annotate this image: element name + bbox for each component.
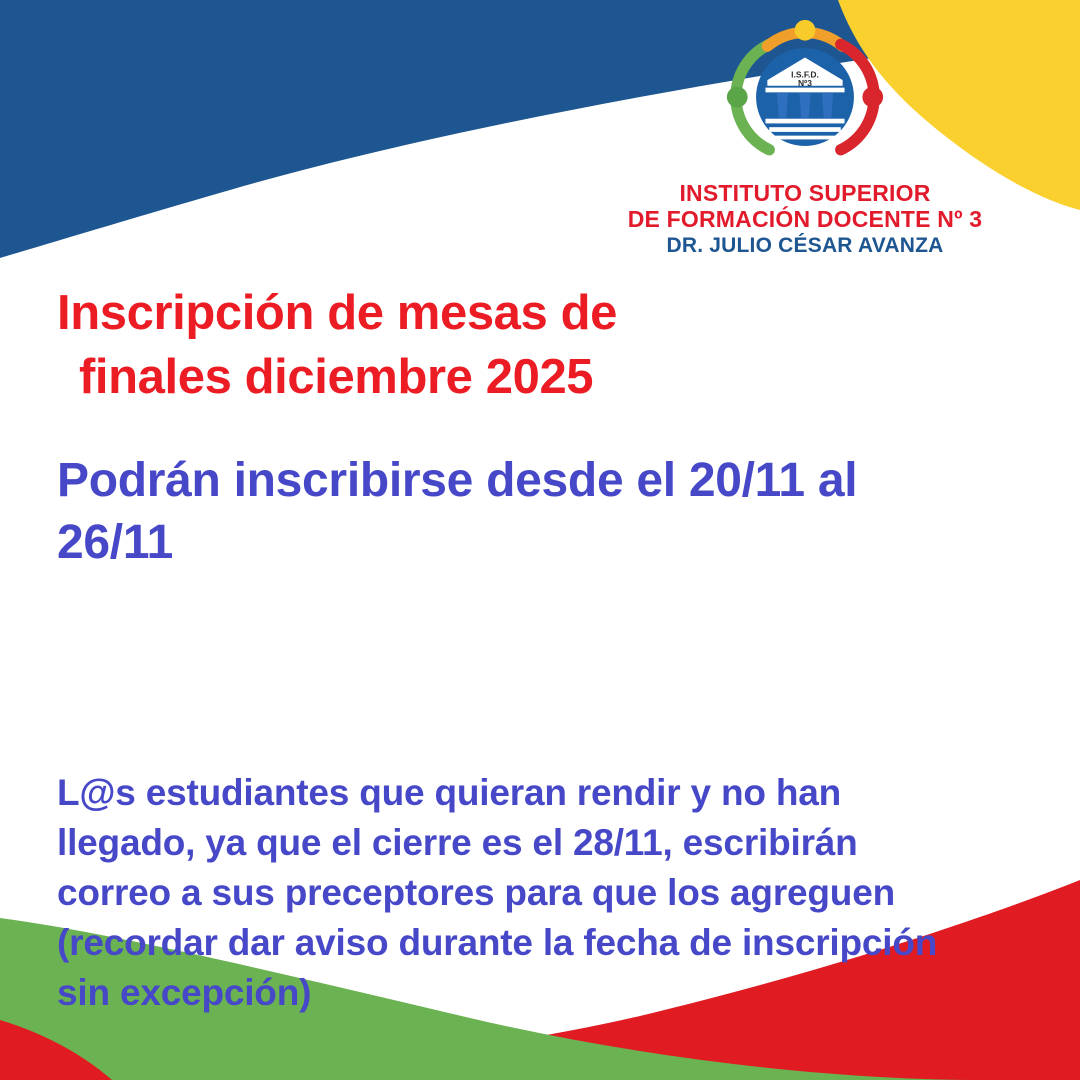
body-paragraph: L@s estudiantes que quieran rendir y no … xyxy=(57,768,967,1018)
emblem-inscription-line2: Nº3 xyxy=(798,78,812,88)
body-line-2: llegado, ya que el cierre es el 28/11, e… xyxy=(57,818,967,868)
headline-red-line-2: finales diciembre 2025 xyxy=(57,346,697,410)
body-line-5: sin excepción) xyxy=(57,968,967,1018)
body-line-3: correo a sus preceptores para que los ag… xyxy=(57,868,967,918)
isfd-3-emblem-icon: I.S.F.D. Nº3 xyxy=(710,18,900,178)
body-line-4: (recordar dar aviso durante la fecha de … xyxy=(57,918,967,968)
logo-line-institute: INSTITUTO SUPERIOR xyxy=(620,180,990,206)
emblem-temple-step-1 xyxy=(765,119,844,124)
emblem-temple-step-2 xyxy=(769,127,841,132)
logo-wordmark: INSTITUTO SUPERIOR DE FORMACIÓN DOCENTE … xyxy=(620,180,990,258)
emblem-dot-green xyxy=(727,87,748,108)
logo-line-avanza: DR. JULIO CÉSAR AVANZA xyxy=(620,234,990,258)
headline-red: Inscripción de mesas de finales diciembr… xyxy=(57,282,697,409)
corner-shape-bottom-left-red-sliver xyxy=(0,1020,112,1080)
body-line-1: L@s estudiantes que quieran rendir y no … xyxy=(57,768,967,818)
emblem-temple-column-2 xyxy=(799,93,810,117)
emblem-temple-step-3 xyxy=(775,136,835,140)
poster-canvas: I.S.F.D. Nº3 INSTITUTO SUPERIOR DE FORMA… xyxy=(0,0,1080,1080)
emblem-dot-red xyxy=(862,87,883,108)
emblem-dot-yellow xyxy=(795,20,816,41)
headline-blue: Podrán inscribirse desde el 20/11 al 26/… xyxy=(57,450,957,575)
logo-line-formacion: DE FORMACIÓN DOCENTE Nº 3 xyxy=(620,206,990,232)
headline-red-line-1: Inscripción de mesas de xyxy=(57,286,617,340)
emblem-temple-architrave xyxy=(765,88,844,93)
emblem-temple-column-3 xyxy=(822,93,833,117)
emblem-temple-column-1 xyxy=(777,93,788,117)
institution-logo: I.S.F.D. Nº3 INSTITUTO SUPERIOR DE FORMA… xyxy=(620,18,990,258)
